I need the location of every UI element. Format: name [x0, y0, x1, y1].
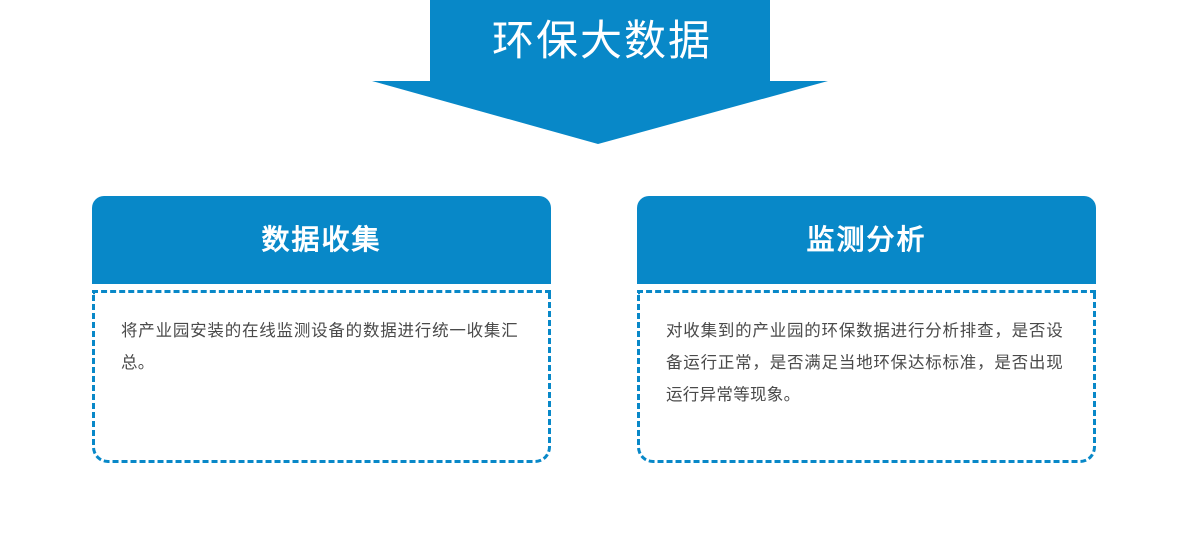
card-monitoring-analysis: 监测分析 对收集到的产业园的环保数据进行分析排查，是否设备运行正常，是否满足当地… — [637, 196, 1096, 463]
card-header-monitoring-analysis: 监测分析 — [637, 196, 1096, 284]
card-data-collection: 数据收集 将产业园安装的在线监测设备的数据进行统一收集汇总。 — [92, 196, 551, 463]
banner-title: 环保大数据 — [372, 0, 828, 82]
card-body-data-collection: 将产业园安装的在线监测设备的数据进行统一收集汇总。 — [92, 290, 551, 463]
card-description-monitoring-analysis: 对收集到的产业园的环保数据进行分析排查，是否设备运行正常，是否满足当地环保达标标… — [666, 315, 1063, 412]
card-title-data-collection: 数据收集 — [261, 226, 381, 254]
big-data-arrow-banner: 环保大数据 — [372, 0, 828, 144]
card-title-monitoring-analysis: 监测分析 — [806, 226, 926, 254]
card-header-data-collection: 数据收集 — [92, 196, 551, 284]
card-description-data-collection: 将产业园安装的在线监测设备的数据进行统一收集汇总。 — [121, 315, 518, 379]
card-body-monitoring-analysis: 对收集到的产业园的环保数据进行分析排查，是否设备运行正常，是否满足当地环保达标标… — [637, 290, 1096, 463]
